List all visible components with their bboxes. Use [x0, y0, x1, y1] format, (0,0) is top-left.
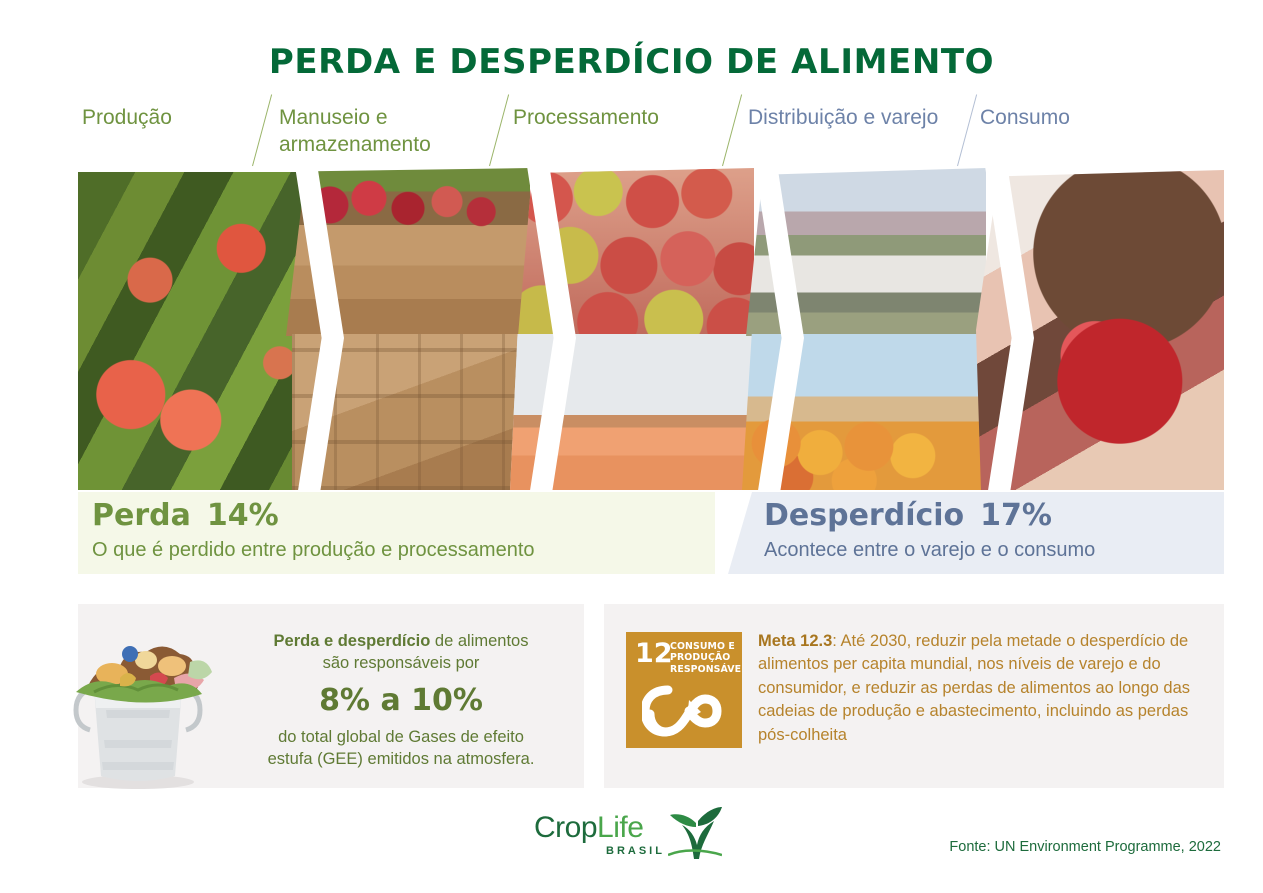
infinity-arrow-icon: [642, 684, 726, 738]
sdg-target-label: Meta 12.3: [758, 632, 832, 650]
stage-label-distribuicao: Distribuição e varejo: [748, 104, 948, 131]
perda-heading-row: Perda14%: [92, 498, 279, 533]
sdg-12-badge: 12 Consumo e produção responsáveis: [626, 632, 742, 748]
stage-label-consumo: Consumo: [980, 104, 1180, 131]
logo-word-crop: Crop: [534, 811, 597, 844]
stage-label-processamento: Processamento: [513, 104, 713, 131]
sdg-goal-card: 12 Consumo e produção responsáveis Meta …: [604, 604, 1224, 788]
photo-apple-orchard-tree: [78, 172, 318, 490]
ghg-line3: do total global de Gases de efeito: [278, 728, 524, 746]
stage-label-manuseio: Manuseio e armazenamento: [279, 104, 484, 159]
ghg-stat-card: Perda e desperdício de alimentos são res…: [78, 604, 584, 788]
desperdicio-heading-row: Desperdício17%: [764, 498, 1052, 533]
ghg-line2: são responsáveis por: [323, 654, 480, 672]
result-band-desperdicio: Desperdício17% Acontece entre o varejo e…: [728, 492, 1224, 574]
sdg-caption: Consumo e produção responsáveis: [670, 641, 736, 675]
desperdicio-label: Desperdício: [764, 498, 964, 533]
trash-can-icon: [54, 614, 222, 790]
perda-label: Perda: [92, 498, 191, 533]
ghg-line1-bold: Perda e desperdício: [274, 632, 431, 650]
logo-wordmark: CropLife: [534, 811, 643, 845]
ghg-line1-rest: de alimentos: [430, 632, 528, 650]
ghg-big-value: 8% a 10%: [228, 681, 574, 722]
page-title: PERDA E DESPERDÍCIO DE ALIMENTO: [0, 42, 1263, 82]
desperdicio-subtitle: Acontece entre o varejo e o consumo: [764, 539, 1095, 562]
ghg-text-block: Perda e desperdício de alimentos são res…: [228, 630, 574, 771]
perda-percent: 14%: [207, 498, 279, 533]
perda-subtitle: O que é perdido entre produção e process…: [92, 539, 535, 562]
stage-label-row: Produção Manuseio e armazenamento Proces…: [0, 104, 1263, 166]
source-note: Fonte: UN Environment Programme, 2022: [949, 839, 1221, 855]
desperdicio-percent: 17%: [980, 498, 1052, 533]
sdg-number: 12: [635, 640, 673, 667]
croplife-logo: CropLife BRASIL: [528, 805, 718, 867]
stage-label-producao: Produção: [82, 104, 247, 131]
photo-mosaic: [78, 168, 1224, 490]
sdg-target-text: Meta 12.3: Até 2030, reduzir pela metade…: [758, 630, 1206, 747]
logo-word-life: Life: [597, 811, 643, 844]
result-band-perda: Perda14% O que é perdido entre produção …: [78, 492, 715, 574]
infographic-page: PERDA E DESPERDÍCIO DE ALIMENTO Produção…: [0, 0, 1263, 893]
ghg-line4: estufa (GEE) emitidos na atmosfera.: [268, 750, 535, 768]
logo-subtitle: BRASIL: [606, 845, 665, 857]
sprout-icon: [668, 805, 722, 863]
